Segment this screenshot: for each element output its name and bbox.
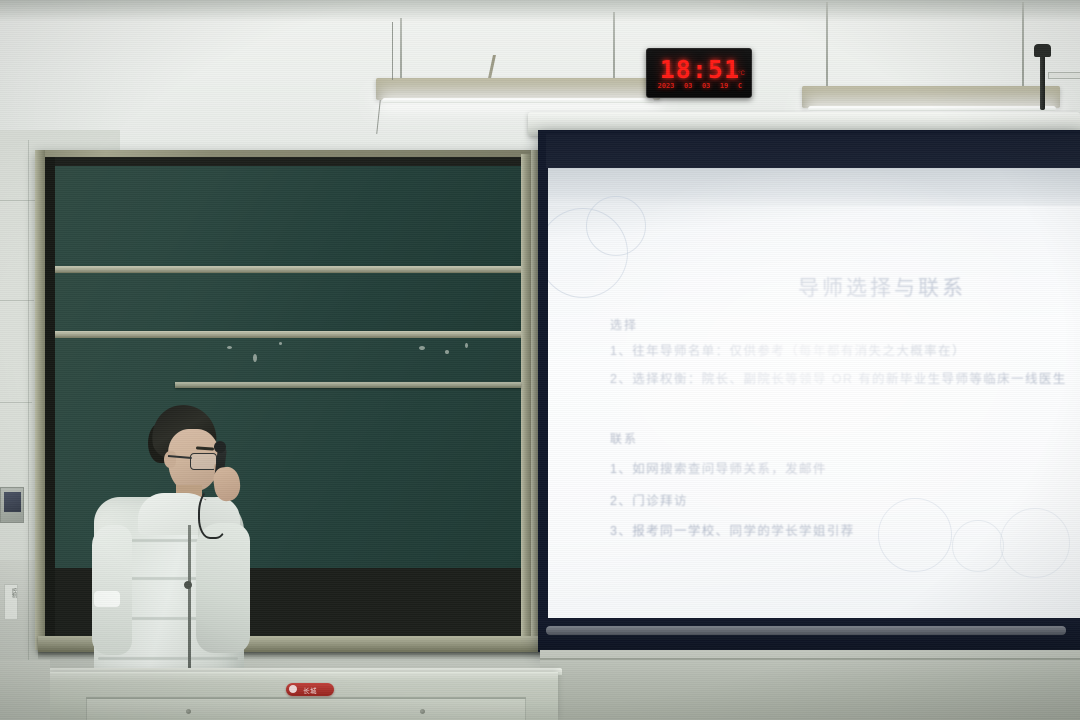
floor-left: [0, 660, 50, 720]
slide-title: 导师选择与联系: [798, 272, 1058, 302]
screen-bottom-bar: [538, 618, 1080, 652]
lectern-logo-mark-icon: [289, 685, 297, 693]
screen-roller-bar: [546, 626, 1066, 635]
projected-slide: 导师选择与联系 选择 1、往年导师名单：仅供参考（每年都有消失之大概率在） 2、…: [548, 168, 1080, 618]
wall-seam: [0, 200, 38, 201]
ceiling-light-right: [802, 86, 1060, 108]
microphone-head-icon: [214, 441, 226, 453]
screen-surface: 导师选择与联系 选择 1、往年导师名单：仅供参考（每年都有消失之大概率在） 2、…: [548, 168, 1080, 618]
chalk-mark: [445, 350, 449, 354]
light-hanger-rod: [826, 2, 828, 90]
slide-section-heading-1: 选择: [610, 316, 638, 333]
camera-head-icon: [1034, 44, 1051, 57]
ear: [164, 451, 176, 468]
wall-switch-label: 控制: [5, 588, 17, 598]
right-wall-ledge: [540, 650, 1080, 720]
camera-arm: [1040, 52, 1045, 110]
chalk-mark: [419, 346, 425, 350]
fluorescent-tube-left: [382, 98, 654, 103]
clock-day: 03: [702, 82, 710, 90]
chalkboard-panel-middle: [55, 273, 521, 331]
slide-bullet: 2、门诊拜访: [610, 490, 688, 509]
chalkboard-rail: [55, 331, 521, 338]
chalk-mark: [279, 342, 282, 345]
chalkboard-vertical-rail: [521, 154, 531, 646]
chalk-mark: [465, 343, 468, 348]
chalkboard-panel-top: [55, 166, 521, 266]
lectern-keyhole[interactable]: [186, 709, 191, 714]
ledge-seam: [540, 658, 1080, 660]
jacket-seam: [98, 657, 238, 660]
clock-date-row: 2023 03 03 19 C: [647, 82, 752, 90]
clock-year: 2023: [658, 82, 675, 90]
lectern-drawer[interactable]: [86, 699, 526, 720]
wall-panel-screen: [4, 492, 21, 512]
camera-wall-plate: [1048, 72, 1080, 79]
glasses-lens: [190, 453, 217, 470]
clock-unit-label: °C: [738, 71, 745, 77]
fluorescent-tube-right: [808, 106, 1056, 111]
led-wall-clock: 18:51 °C 2023 03 03 19 C: [646, 48, 752, 98]
clock-time-display: 18:51: [647, 55, 752, 84]
classroom-scene: 18:51 °C 2023 03 03 19 C: [0, 0, 1080, 720]
slide-bullet: 1、往年导师名单：仅供参考（每年都有消失之大概率在）: [610, 340, 966, 359]
ceiling-shadow: [0, 0, 1080, 22]
jacket-sleeve-band: [94, 591, 120, 607]
clock-temp-unit: C: [738, 82, 742, 90]
chalkboard-vertical-rail: [35, 150, 45, 650]
wall-control-panel[interactable]: [0, 487, 24, 523]
jacket-right-sleeve: [196, 523, 250, 653]
chalk-mark: [227, 346, 232, 349]
screen-top-band: [546, 134, 1080, 168]
light-hanger-rod: [1022, 2, 1024, 90]
clock-temperature: 19: [720, 82, 728, 90]
slide-bullet: 1、如网搜索查问导师关系，发邮件: [610, 458, 827, 477]
light-hanger-rod: [613, 12, 615, 84]
light-hanger-rod: [400, 18, 402, 82]
slide-bullet: 2、选择权衡：院长、副院长等领导 OR 有的新毕业生导师等临床一线医生: [610, 368, 1067, 387]
lectern-keyhole[interactable]: [420, 709, 425, 714]
chalk-mark: [253, 354, 257, 362]
ceiling-light-left: [376, 78, 660, 100]
power-cord: [392, 22, 393, 80]
jacket-left-sleeve: [92, 525, 132, 655]
chalkboard-side-gap: [45, 157, 55, 643]
slide-section-heading-2: 联系: [610, 430, 638, 447]
slide-bullet: 3、报考同一学校、同学的学长学姐引荐: [610, 520, 855, 539]
chalkboard-middle-divider: [175, 382, 521, 388]
wall-seam: [28, 140, 29, 660]
jacket-zipper-pull: [184, 581, 192, 589]
chalkboard-rail: [55, 266, 521, 273]
clock-month: 03: [684, 82, 692, 90]
